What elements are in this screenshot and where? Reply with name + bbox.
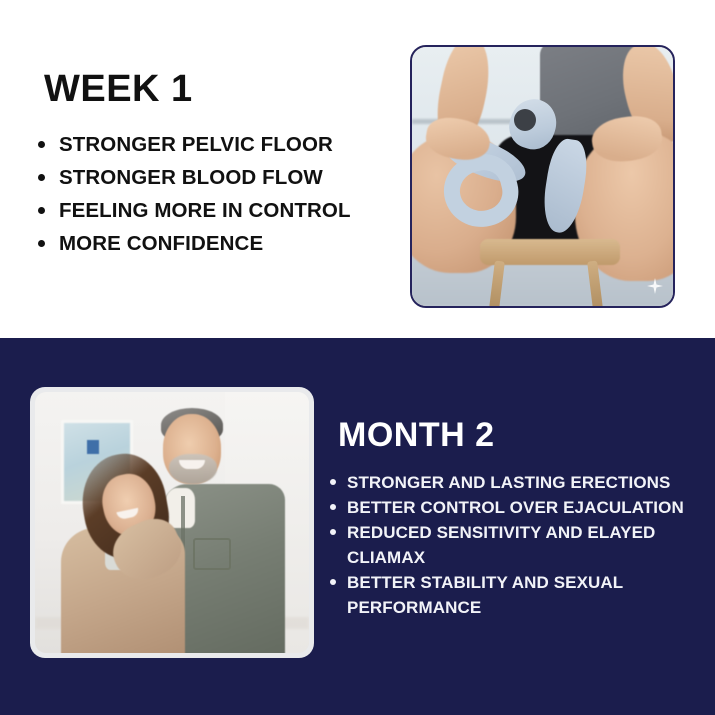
bullet-icon — [38, 174, 45, 181]
sparkle-icon — [647, 278, 663, 294]
photo-content — [35, 392, 309, 653]
list-item-label: STRONGER BLOOD FLOW — [59, 166, 323, 189]
bullet-icon — [330, 504, 336, 510]
bullet-icon — [38, 141, 45, 148]
photo-man-undershirt — [165, 488, 195, 528]
list-item-label: STRONGER PELVIC FLOOR — [59, 133, 333, 156]
list-item-label: STRONGER AND LASTING ERECTIONS — [347, 473, 671, 492]
bullet-icon — [38, 240, 45, 247]
list-item-label: REDUCED SENSITIVITY AND ELAYED CLIAMAX — [347, 523, 655, 567]
list-item: STRONGER BLOOD FLOW — [38, 161, 398, 194]
list-item: BETTER CONTROL OVER EJACULATION — [330, 495, 708, 520]
list-item-label: MORE CONFIDENCE — [59, 232, 263, 255]
list-item: FEELING MORE IN CONTROL — [38, 194, 398, 227]
bullet-icon — [330, 579, 336, 585]
list-item: BETTER STABILITY AND SEXUAL PERFORMANCE — [330, 570, 708, 620]
promo-poster: WEEK 1 STRONGER PELVIC FLOOR STRONGER BL… — [0, 0, 715, 715]
list-item-label: FEELING MORE IN CONTROL — [59, 199, 351, 222]
month-benefits-list: STRONGER AND LASTING ERECTIONS BETTER CO… — [330, 470, 708, 620]
photo-device-cap — [514, 109, 536, 131]
list-item: MORE CONFIDENCE — [38, 227, 398, 260]
photo-wall-art-accent — [87, 440, 99, 454]
list-item: STRONGER PELVIC FLOOR — [38, 128, 398, 161]
week-benefits-list: STRONGER PELVIC FLOOR STRONGER BLOOD FLO… — [38, 128, 398, 260]
list-item: STRONGER AND LASTING ERECTIONS — [330, 470, 708, 495]
photo-content — [412, 47, 673, 306]
pelvic-trainer-photo: Person seated on a wooden stool using a … — [410, 45, 675, 308]
week-heading: WEEK 1 — [44, 70, 193, 108]
bullet-icon — [38, 207, 45, 214]
photo-man-beard — [169, 454, 217, 484]
bullet-icon — [330, 529, 336, 535]
list-item-label: BETTER STABILITY AND SEXUAL PERFORMANCE — [347, 573, 623, 617]
list-item-label: BETTER CONTROL OVER EJACULATION — [347, 498, 684, 517]
month-heading: MONTH 2 — [338, 418, 495, 452]
week-one-panel: WEEK 1 STRONGER PELVIC FLOOR STRONGER BL… — [0, 0, 715, 338]
list-item: REDUCED SENSITIVITY AND ELAYED CLIAMAX — [330, 520, 708, 570]
photo-man-shirt-pocket — [193, 538, 231, 570]
bullet-icon — [330, 479, 336, 485]
couple-photo: Smiling middle-aged couple embracing in … — [30, 387, 314, 658]
